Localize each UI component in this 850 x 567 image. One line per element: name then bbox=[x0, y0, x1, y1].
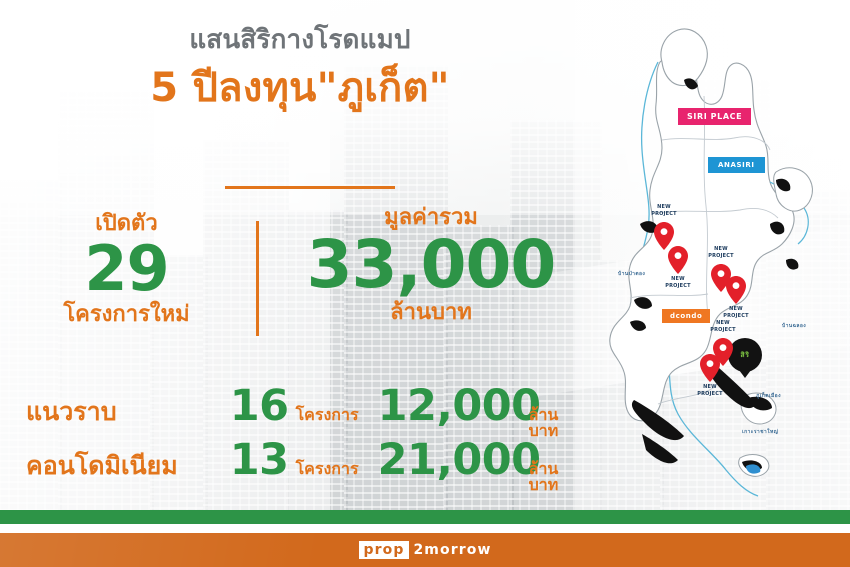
brand-badge-siri-place-label: SIRI PLACE bbox=[687, 112, 742, 121]
logo-2morrow-text: 2morrow bbox=[409, 542, 491, 558]
stat-total-value: มูลค่ารวม 33,000 ล้านบาท bbox=[281, 205, 581, 326]
map-pin-new-project[interactable] bbox=[668, 246, 688, 274]
map-pin-new-project[interactable] bbox=[726, 276, 746, 304]
map-place-label: บ้านป่าตอง bbox=[618, 270, 645, 278]
horizontal-divider bbox=[225, 186, 395, 189]
brand-badge-anasiri[interactable]: ANASIRI bbox=[708, 157, 765, 173]
map-pin-label: NEWPROJECT bbox=[707, 306, 765, 320]
breakdown-row-condominium: คอนโดมิเนียม 13 โครงการ 21,000 ล้านบาท bbox=[26, 439, 586, 493]
map-place-label: ภูเก็ตเมือง bbox=[756, 392, 781, 400]
stat-total-unit: ล้านบาท bbox=[281, 300, 581, 326]
content-column: แสนสิริกางโรดแมป 5 ปีลงทุน"ภูเก็ต" เปิดต… bbox=[0, 0, 600, 510]
location-pin-icon bbox=[700, 354, 720, 382]
brand-badge-dcondo-label: dcondo bbox=[670, 312, 702, 320]
location-pin-icon bbox=[726, 276, 746, 304]
row-amount-unit: ล้านบาท bbox=[523, 461, 586, 493]
stat-launched-value: 29 bbox=[19, 237, 234, 301]
row-amount: 21,000 bbox=[378, 439, 523, 482]
row-category: แนวราบ bbox=[26, 399, 206, 424]
kicker-text: แสนสิริกางโรดแมป bbox=[0, 24, 600, 57]
map-pin-label: NEWPROJECT bbox=[694, 320, 752, 334]
map-pin-label: NEWPROJECT bbox=[649, 276, 707, 290]
location-pin-icon bbox=[668, 246, 688, 274]
map-pin-label: NEWPROJECT bbox=[635, 204, 693, 218]
phuket-map-panel: SIRI PLACE ANASIRI dcondo สิริ NEWPROJEC… bbox=[600, 0, 850, 510]
row-count-unit: โครงการ bbox=[289, 407, 378, 423]
map-pin-new-project[interactable] bbox=[700, 354, 720, 382]
badge-pointer-tail bbox=[739, 370, 751, 378]
footer-gap bbox=[0, 524, 850, 533]
map-pin-label: NEWPROJECT bbox=[692, 246, 750, 260]
map-north-lobe bbox=[661, 29, 707, 86]
brand-badge-siri-circle-label: สิริ bbox=[740, 350, 749, 361]
breakdown-row-horizontal: แนวราบ 16 โครงการ 12,000 ล้านบาท bbox=[26, 385, 586, 439]
row-count: 13 bbox=[206, 439, 289, 482]
logo-prop-text: prop bbox=[359, 541, 410, 559]
vertical-divider bbox=[256, 221, 259, 336]
brand-badge-siri-place[interactable]: SIRI PLACE bbox=[678, 108, 751, 125]
headline-text: 5 ปีลงทุน"ภูเก็ต" bbox=[0, 63, 600, 113]
row-count-unit: โครงการ bbox=[289, 461, 378, 477]
headline-block: แสนสิริกางโรดแมป 5 ปีลงทุน"ภูเก็ต" bbox=[0, 24, 600, 113]
brand-badge-anasiri-label: ANASIRI bbox=[718, 161, 755, 169]
stat-total-value-number: 33,000 bbox=[281, 231, 581, 300]
map-pin-label: NEWPROJECT bbox=[681, 384, 739, 398]
footer: prop 2morrow bbox=[0, 510, 850, 567]
top-stats: เปิดตัว 29 โครงการใหม่ มูลค่ารวม 33,000 … bbox=[0, 205, 600, 336]
footer-orange-bar: prop 2morrow bbox=[0, 533, 850, 567]
row-count: 16 bbox=[206, 385, 289, 428]
row-category: คอนโดมิเนียม bbox=[26, 453, 206, 478]
brand-badge-siri-circle[interactable]: สิริ bbox=[728, 338, 762, 372]
map-place-label: เกาะราชาใหญ่ bbox=[742, 428, 778, 436]
breakdown-rows: แนวราบ 16 โครงการ 12,000 ล้านบาท คอนโดมิ… bbox=[26, 385, 586, 493]
row-amount: 12,000 bbox=[378, 385, 523, 428]
map-place-label: บ้านฉลอง bbox=[782, 322, 806, 330]
footer-green-bar bbox=[0, 510, 850, 524]
infographic-root: แสนสิริกางโรดแมป 5 ปีลงทุน"ภูเก็ต" เปิดต… bbox=[0, 0, 850, 567]
prop2morrow-logo[interactable]: prop 2morrow bbox=[359, 541, 492, 559]
stat-launched: เปิดตัว 29 โครงการใหม่ bbox=[19, 205, 234, 328]
stat-launched-unit: โครงการใหม่ bbox=[19, 302, 234, 328]
